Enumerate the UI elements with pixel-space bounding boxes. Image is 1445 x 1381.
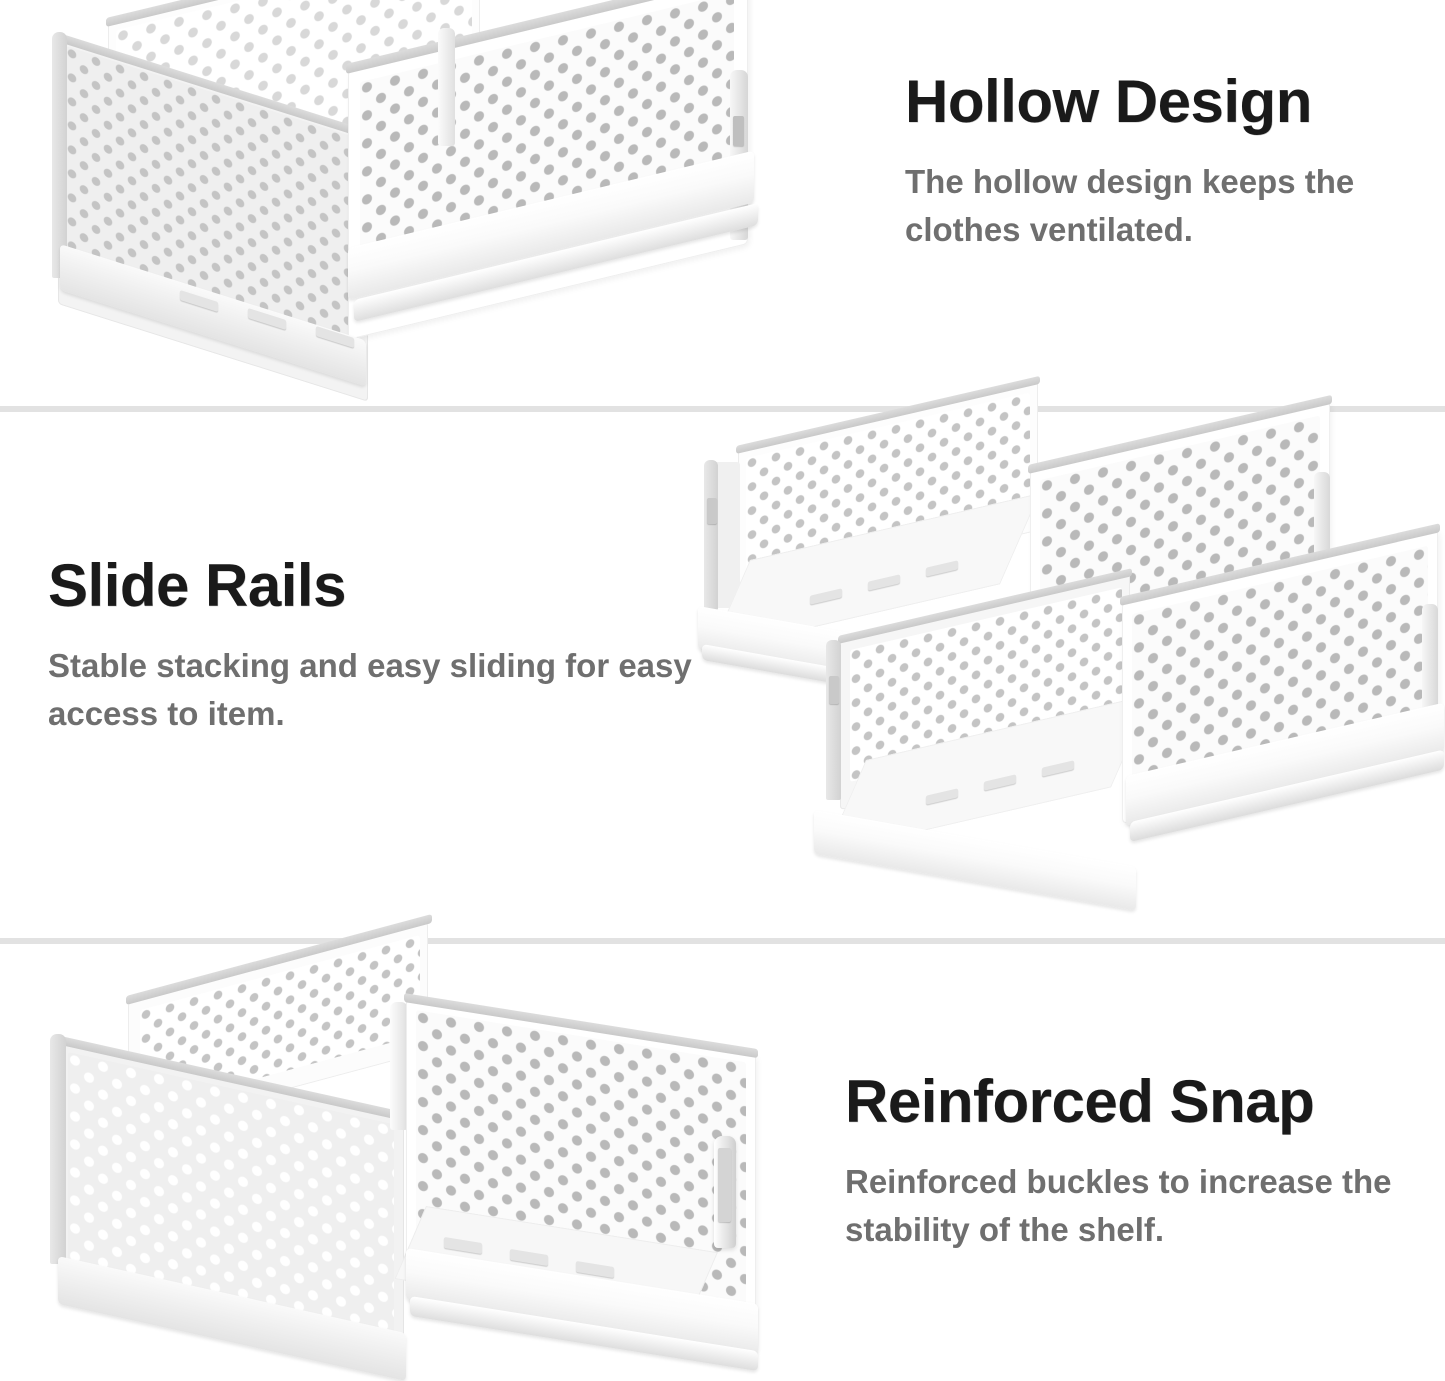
basket-center-divider-post [438, 28, 455, 146]
product-image-reinforced-snap: White perforated storage basket viewed f… [28, 980, 808, 1338]
basket-left-corner-post [52, 32, 67, 278]
lower-basket-snap-slot [829, 676, 839, 704]
upper-basket-snap-slot [707, 498, 717, 524]
section-hollow-design: White perforated stackable storage baske… [0, 0, 1445, 410]
snap-buckle-slot [733, 116, 744, 146]
reinforced-snap-buckle-slot [718, 1148, 731, 1222]
lower-basket-left-post [826, 640, 841, 800]
hollow-design-title: Hollow Design [905, 72, 1425, 132]
infographic-page: White perforated stackable storage baske… [0, 0, 1445, 1358]
product-image-slide-rails: Two stacked white perforated storage bas… [690, 440, 1445, 910]
hollow-design-description: The hollow design keeps the clothes vent… [905, 158, 1425, 254]
hollow-design-text-block: Hollow Design The hollow design keeps th… [905, 72, 1425, 254]
lower-basket-left-base-rail [814, 810, 1136, 911]
section-reinforced-snap: White perforated storage basket viewed f… [0, 944, 1445, 1358]
slide-rails-text-block: Slide Rails Stable stacking and easy sli… [48, 556, 708, 738]
section-slide-rails: Slide Rails Stable stacking and easy sli… [0, 412, 1445, 942]
reinforced-snap-text-block: Reinforced Snap Reinforced buckles to in… [845, 1072, 1435, 1254]
reinforced-snap-title: Reinforced Snap [845, 1072, 1435, 1132]
product-image-hollow-design: White perforated stackable storage baske… [30, 8, 790, 398]
slide-rails-description: Stable stacking and easy sliding for eas… [48, 642, 708, 738]
reinforced-snap-description: Reinforced buckles to increase the stabi… [845, 1158, 1435, 1254]
snap-basket-left-post [50, 1034, 66, 1264]
slide-rails-title: Slide Rails [48, 556, 708, 616]
upper-basket-left-post [704, 460, 718, 610]
